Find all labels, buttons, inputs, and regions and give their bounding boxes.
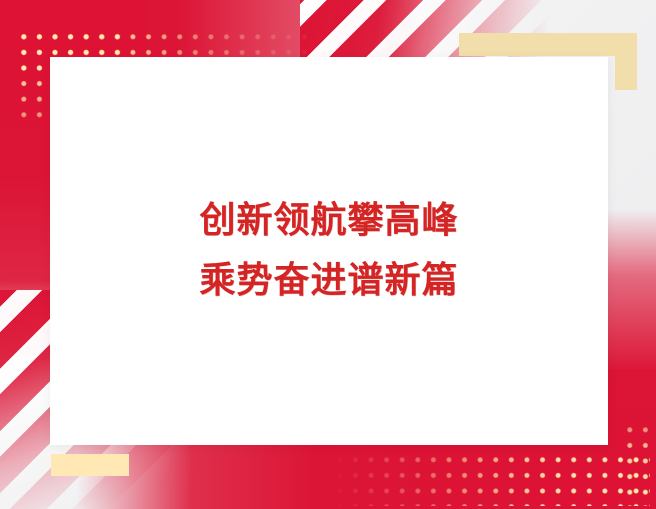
gold-bar-icon <box>51 454 129 476</box>
dot-grid-bottom-horizontal-icon <box>330 450 650 506</box>
poster-canvas: 创新领航攀高峰 乘势奋进谱新篇 <box>0 0 656 509</box>
page-title-line-1: 创新领航攀高峰 <box>199 197 458 245</box>
card-inner: 创新领航攀高峰 乘势奋进谱新篇 <box>50 57 608 445</box>
dot-grid-right-vertical-icon <box>620 420 654 506</box>
page-title: 创新领航攀高峰 乘势奋进谱新篇 <box>199 197 458 304</box>
gold-bracket-vertical <box>615 33 637 90</box>
gold-bracket-horizontal <box>459 33 637 56</box>
content-card: 创新领航攀高峰 乘势奋进谱新篇 <box>50 57 608 445</box>
page-title-line-2: 乘势奋进谱新篇 <box>199 257 458 305</box>
